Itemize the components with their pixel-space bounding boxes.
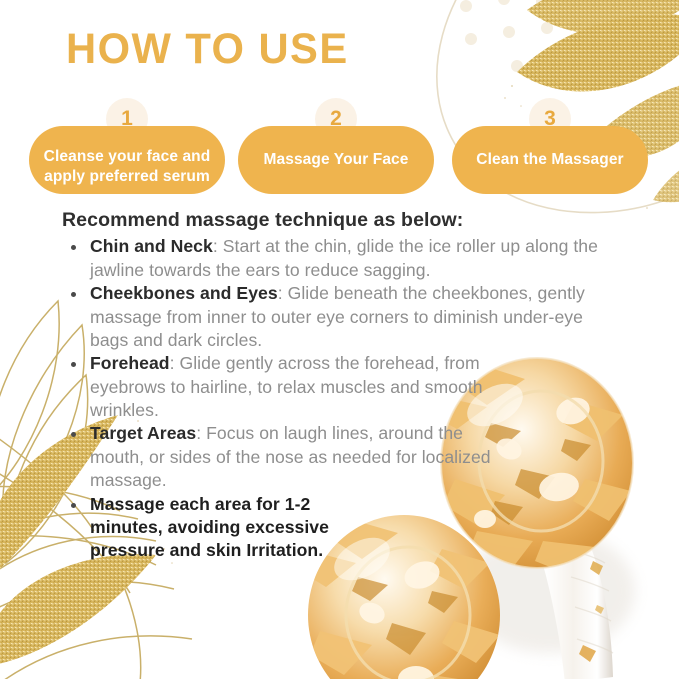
list-item-label: Forehead (90, 353, 170, 373)
instructions-heading: Recommend massage technique as below: (62, 208, 622, 233)
list-item: Chin and Neck: Start at the chin, glide … (68, 235, 622, 282)
step-pill-3[interactable]: Clean the Massager (452, 126, 648, 194)
list-item-label: Target Areas (90, 423, 196, 443)
list-item-label: Massage each area for 1-2 minutes, avoid… (90, 494, 329, 561)
step-item-3[interactable]: 3 Clean the Massager (452, 98, 648, 194)
list-item: Cheekbones and Eyes: Glide beneath the c… (68, 282, 622, 352)
list-item: Massage each area for 1-2 minutes, avoid… (68, 493, 330, 563)
step-pill-2[interactable]: Massage Your Face (238, 126, 434, 194)
steps-row: 1 Cleanse your face and apply preferred … (0, 98, 679, 198)
list-item-label: Chin and Neck (90, 236, 213, 256)
list-item-separator: : (278, 283, 288, 303)
list-item: Target Areas: Focus on laugh lines, arou… (68, 422, 510, 492)
list-item-label: Cheekbones and Eyes (90, 283, 278, 303)
cream-dot-grid (460, 0, 561, 72)
page-title: HOW TO USE (66, 28, 349, 71)
instructions-block: Recommend massage technique as below: Ch… (62, 208, 622, 563)
step-item-2[interactable]: 2 Massage Your Face (238, 98, 434, 194)
step-item-1[interactable]: 1 Cleanse your face and apply preferred … (29, 98, 225, 194)
list-item-separator: : (213, 236, 223, 256)
list-item: Forehead: Glide gently across the forehe… (68, 352, 510, 422)
how-to-use-infographic: HOW TO USE 1 Cleanse your face and apply… (0, 0, 679, 679)
list-item-separator: : (196, 423, 206, 443)
step-pill-1[interactable]: Cleanse your face and apply preferred se… (29, 126, 225, 194)
list-item-separator: : (170, 353, 180, 373)
instructions-list: Chin and Neck: Start at the chin, glide … (62, 235, 622, 562)
